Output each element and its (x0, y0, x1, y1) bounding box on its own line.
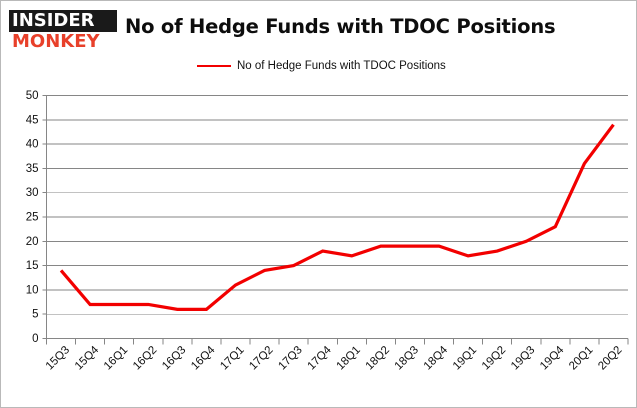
x-axis-tick-label: 20Q1 (567, 344, 595, 372)
line-chart-svg: 05101520253035404550 15Q315Q416Q116Q216Q… (1, 1, 636, 407)
y-axis-tick-label: 40 (26, 139, 39, 151)
x-axis-tick-label: 15Q4 (73, 344, 102, 373)
x-axis-tick-label: 17Q2 (247, 344, 275, 372)
x-axis-tick-label: 17Q1 (218, 344, 246, 372)
y-axis-tick-label: 35 (26, 163, 39, 175)
x-axis-tick-label: 16Q3 (160, 344, 188, 372)
y-axis-tick-label: 50 (26, 90, 39, 102)
y-axis-tick-label: 10 (26, 284, 39, 296)
y-axis-tick-label: 25 (26, 212, 39, 224)
x-axis-tick-label: 18Q3 (393, 344, 421, 372)
gridlines (43, 96, 629, 339)
x-axis-tick-label: 15Q3 (44, 344, 72, 372)
x-axis-tick-label: 17Q3 (276, 344, 304, 372)
x-axis-tick-label: 19Q4 (538, 344, 567, 373)
x-axis-tick-label: 17Q4 (305, 344, 334, 373)
plot-area: 05101520253035404550 15Q315Q416Q116Q216Q… (1, 1, 636, 407)
x-axis-tick-label: 16Q2 (131, 344, 159, 372)
chart-page: INSIDER MONKEY No of Hedge Funds with TD… (0, 0, 637, 408)
y-axis-tick-label: 15 (26, 260, 39, 272)
x-axis-tick-label: 19Q3 (509, 344, 537, 372)
x-axis-tick-label: 19Q1 (451, 344, 479, 372)
y-axis-tick-labels: 05101520253035404550 (26, 90, 39, 345)
x-axis-tick-label: 20Q2 (596, 344, 624, 372)
x-axis-tick-label: 16Q1 (102, 344, 130, 372)
x-axis-tick-label: 16Q4 (189, 344, 218, 373)
y-axis-tick-label: 5 (32, 309, 38, 321)
x-axis-tick-label: 18Q2 (364, 344, 392, 372)
x-axis-tick-label: 19Q2 (480, 344, 508, 372)
x-axis-tick-label: 18Q1 (335, 344, 363, 372)
x-axis-tick-marks (47, 339, 629, 345)
y-axis-tick-label: 0 (32, 333, 38, 345)
y-axis-tick-label: 20 (26, 236, 39, 248)
y-axis-tick-label: 30 (26, 187, 39, 199)
x-axis-tick-labels: 15Q315Q416Q116Q216Q316Q417Q117Q217Q317Q4… (44, 344, 625, 373)
x-axis-tick-label: 18Q4 (422, 344, 451, 373)
y-axis-tick-label: 45 (26, 114, 39, 126)
